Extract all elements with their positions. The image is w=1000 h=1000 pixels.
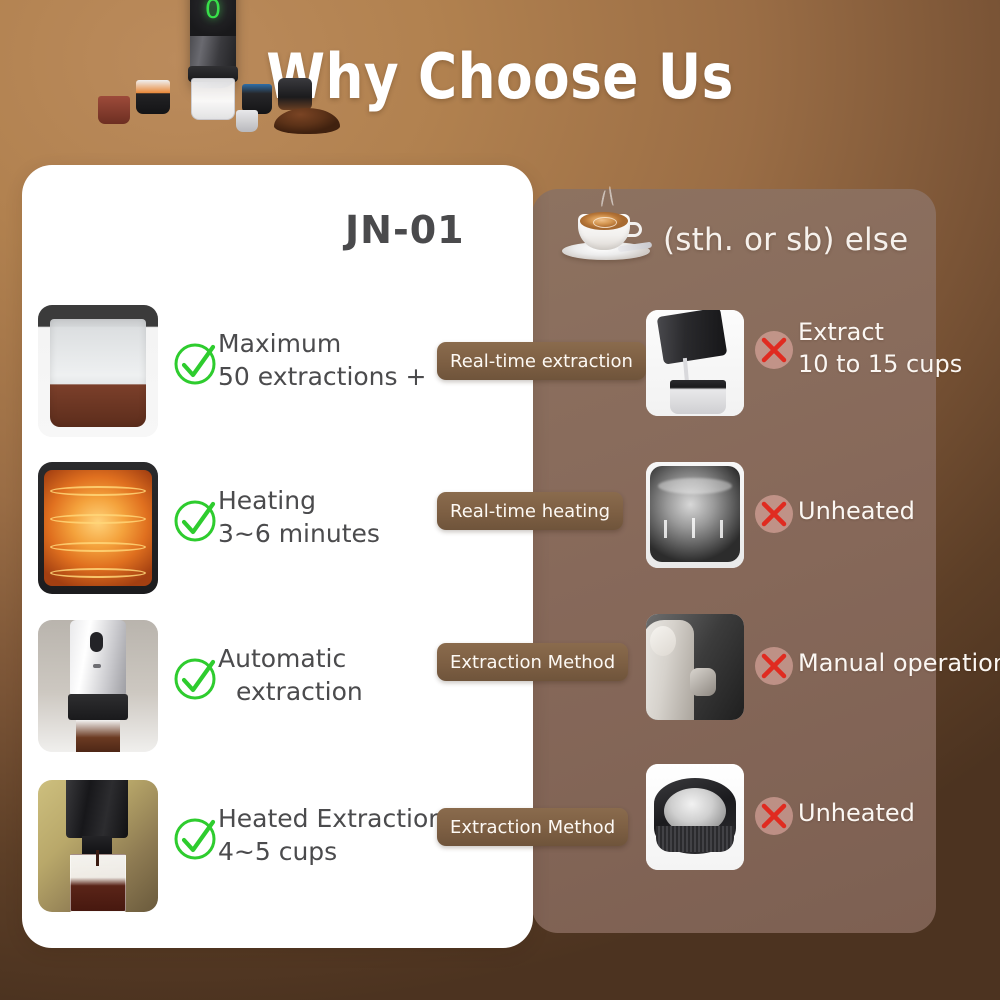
- heated-extraction-photo-icon: [38, 780, 158, 912]
- feature-row: Heating 3~6 minutes: [38, 462, 508, 594]
- machine-display-value: 0: [205, 0, 222, 25]
- drawback-line-1: Manual operation: [798, 649, 1000, 677]
- comparison-badge: Extraction Method: [437, 643, 628, 681]
- feature-text: Heated Extraction 4~5 cups: [218, 802, 444, 868]
- feature-text: Maximum 50 extractions +: [218, 327, 426, 393]
- product-model-label: JN-01: [345, 208, 465, 252]
- capsule-icon: [278, 78, 312, 110]
- feature-text: Heating 3~6 minutes: [218, 484, 380, 550]
- drawback-line-1: Extract: [798, 318, 884, 346]
- capsule-icon: [136, 80, 170, 114]
- heating-coil-photo-icon: [38, 462, 158, 594]
- coffee-cup-with-beans-icon: [556, 198, 660, 270]
- feature-line-1: Maximum: [218, 329, 341, 358]
- drawback-row: Unheated: [646, 764, 986, 870]
- coffee-cup-extraction-photo-icon: [38, 305, 158, 437]
- filter-basket-photo-icon: [646, 764, 744, 870]
- comparison-badge: Real-time extraction: [437, 342, 646, 380]
- competitor-header-label: (sth. or sb) else: [663, 222, 908, 258]
- drawback-text: Unheated: [798, 797, 915, 829]
- green-check-icon: [172, 816, 218, 862]
- feature-line-2: 4~5 cups: [218, 835, 444, 868]
- feature-line-1: Heated Extraction: [218, 804, 444, 833]
- feature-row: Automatic extraction: [38, 620, 508, 752]
- drawback-row: Manual operation: [646, 614, 986, 720]
- red-cross-icon: [752, 644, 796, 688]
- red-cross-icon: [752, 328, 796, 372]
- green-check-icon: [172, 498, 218, 544]
- infographic-canvas: Why Choose Us 0 JN-01: [0, 0, 1000, 1000]
- red-cross-icon: [752, 794, 796, 838]
- cold-water-photo-icon: [646, 462, 744, 568]
- drawback-text: Unheated: [798, 495, 915, 527]
- drawback-row: Unheated: [646, 462, 986, 568]
- drawback-line-2: 10 to 15 cups: [798, 348, 962, 380]
- capsule-icon: [98, 96, 130, 124]
- green-check-icon: [172, 341, 218, 387]
- drawback-line-1: Unheated: [798, 799, 915, 827]
- coffee-grounds-icon: [274, 108, 340, 134]
- red-cross-icon: [752, 492, 796, 536]
- green-check-icon: [172, 656, 218, 702]
- feature-line-1: Heating: [218, 486, 316, 515]
- feature-line-2: 50 extractions +: [218, 360, 426, 393]
- comparison-badge: Real-time heating: [437, 492, 623, 530]
- manual-press-photo-icon: [646, 310, 744, 416]
- drawback-line-1: Unheated: [798, 497, 915, 525]
- drawback-text: Manual operation: [798, 647, 1000, 679]
- feature-line-2: extraction: [236, 675, 363, 708]
- automatic-machine-photo-icon: [38, 620, 158, 752]
- capsule-icon: [236, 110, 258, 132]
- drawback-text: Extract 10 to 15 cups: [798, 316, 962, 380]
- drawback-row: Extract 10 to 15 cups: [646, 310, 986, 416]
- feature-line-2: 3~6 minutes: [218, 517, 380, 550]
- comparison-badge: Extraction Method: [437, 808, 628, 846]
- feature-text: Automatic extraction: [218, 642, 363, 708]
- hand-pressing-photo-icon: [646, 614, 744, 720]
- portable-espresso-machine-icon: 0: [90, 0, 340, 138]
- feature-row: Heated Extraction 4~5 cups: [38, 780, 508, 912]
- feature-line-1: Automatic: [218, 644, 346, 673]
